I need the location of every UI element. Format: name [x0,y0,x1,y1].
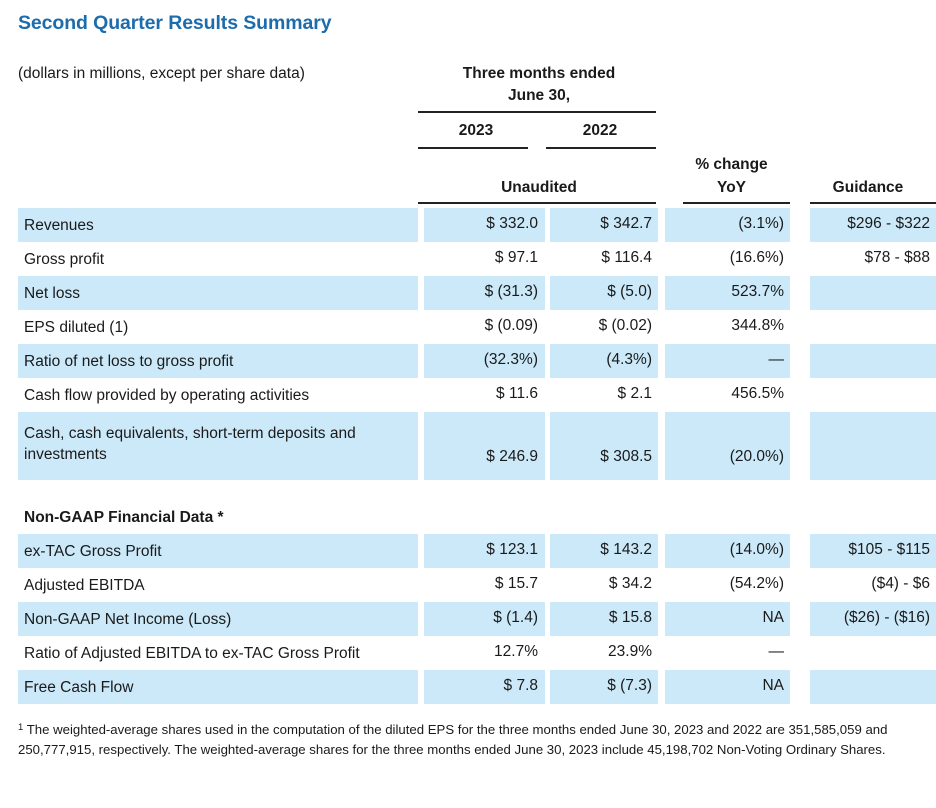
table-row[interactable]: ex-TAC Gross Profit$ 123.1$ 143.2(14.0%)… [0,534,936,568]
row-label: Ratio of net loss to gross profit [24,351,414,372]
cell-2023: $ (0.09) [424,317,538,335]
table-row[interactable]: Net loss$ (31.3)$ (5.0)523.7% [0,276,936,310]
row-label: Net loss [24,283,414,304]
column-header-2022: 2022 [550,122,650,140]
table-row[interactable]: Non-GAAP Net Income (Loss)$ (1.4)$ 15.8N… [0,602,936,636]
column-header-period-line2: June 30, [424,87,654,105]
cell-2022: $ 15.8 [550,609,652,627]
cell-2022: $ 308.5 [550,448,652,466]
cell-2022: $ 34.2 [550,575,652,593]
non-gaap-section-title: Non-GAAP Financial Data * [24,509,224,527]
units-note: (dollars in millions, except per share d… [18,65,305,83]
cell-pct-change: — [679,643,784,661]
cell-2023: 12.7% [424,643,538,661]
cell-2023: $ 97.1 [424,249,538,267]
table-row[interactable]: Adjusted EBITDA$ 15.7$ 34.2(54.2%)($4) -… [0,568,936,602]
cell-2022: $ 2.1 [550,385,652,403]
row-label: ex-TAC Gross Profit [24,541,414,562]
cell-2022: $ (5.0) [550,283,652,301]
table-row[interactable]: Ratio of Adjusted EBITDA to ex-TAC Gross… [0,636,936,670]
cell-2023: $ 332.0 [424,215,538,233]
cell-2023: $ 15.7 [424,575,538,593]
cell-pct-change: NA [679,677,784,695]
column-header-guidance: Guidance [806,179,930,197]
cell-guidance: $78 - $88 [806,249,930,267]
table-row[interactable]: Ratio of net loss to gross profit(32.3%)… [0,344,936,378]
row-label: Gross profit [24,249,414,270]
cell-pct-change: (54.2%) [679,575,784,593]
cell-pct-change: (16.6%) [679,249,784,267]
cell-guidance: $296 - $322 [806,215,930,233]
cell-pct-change: NA [679,609,784,627]
row-label: Cash flow provided by operating activiti… [24,385,414,406]
cell-pct-change: (3.1%) [679,215,784,233]
cell-2022: $ 342.7 [550,215,652,233]
cell-2023: $ 11.6 [424,385,538,403]
column-header-period-line1: Three months ended [424,65,654,83]
cell-2022: 23.9% [550,643,652,661]
row-label: Adjusted EBITDA [24,575,414,596]
page-title: Second Quarter Results Summary [18,12,331,35]
cell-2022: $ 116.4 [550,249,652,267]
rule-pct-change [683,202,790,204]
row-label: Revenues [24,215,414,236]
cell-2022: $ 143.2 [550,541,652,559]
row-label: Ratio of Adjusted EBITDA to ex-TAC Gross… [24,643,414,664]
cell-2023: $ (31.3) [424,283,538,301]
table-row[interactable]: EPS diluted (1)$ (0.09)$ (0.02)344.8% [0,310,936,344]
cell-guidance: $105 - $115 [806,541,930,559]
row-label: Non-GAAP Net Income (Loss) [24,609,414,630]
cell-2022: $ (0.02) [550,317,652,335]
column-header-2023: 2023 [424,122,528,140]
column-header-pct-change-line1: % change [679,156,784,174]
row-label: Free Cash Flow [24,677,414,698]
cell-pct-change: 523.7% [679,283,784,301]
footnote-text: The weighted-average shares used in the … [18,722,887,757]
cell-2022: (4.3%) [550,351,652,369]
rule-unaudited [418,202,656,204]
cell-guidance: ($26) - ($16) [806,609,930,627]
cell-2023: $ 123.1 [424,541,538,559]
rule-period-group [418,111,656,113]
cell-pct-change: (20.0%) [679,448,784,466]
cell-pct-change: (14.0%) [679,541,784,559]
row-label: Cash, cash equivalents, short-term depos… [24,423,414,465]
rule-2022 [546,147,656,149]
table-row[interactable]: Free Cash Flow$ 7.8$ (7.3)NA [0,670,936,704]
column-header-unaudited: Unaudited [424,179,654,197]
cell-2023: $ 7.8 [424,677,538,695]
rule-2023 [418,147,528,149]
cell-pct-change: — [679,351,784,369]
cell-pct-change: 344.8% [679,317,784,335]
row-label: EPS diluted (1) [24,317,414,338]
cell-2023: $ (1.4) [424,609,538,627]
footnote: 1 The weighted-average shares used in th… [18,718,920,759]
table-row[interactable]: Cash flow provided by operating activiti… [0,378,936,412]
table-row[interactable]: Revenues$ 332.0$ 342.7(3.1%)$296 - $322 [0,208,936,242]
cell-2023: $ 246.9 [424,448,538,466]
cell-guidance: ($4) - $6 [806,575,930,593]
table-row[interactable]: Cash, cash equivalents, short-term depos… [0,412,936,480]
table-row[interactable]: Gross profit$ 97.1$ 116.4(16.6%)$78 - $8… [0,242,936,276]
column-header-pct-change-line2: YoY [679,179,784,197]
rule-guidance [810,202,936,204]
cell-2022: $ (7.3) [550,677,652,695]
cell-pct-change: 456.5% [679,385,784,403]
cell-2023: (32.3%) [424,351,538,369]
